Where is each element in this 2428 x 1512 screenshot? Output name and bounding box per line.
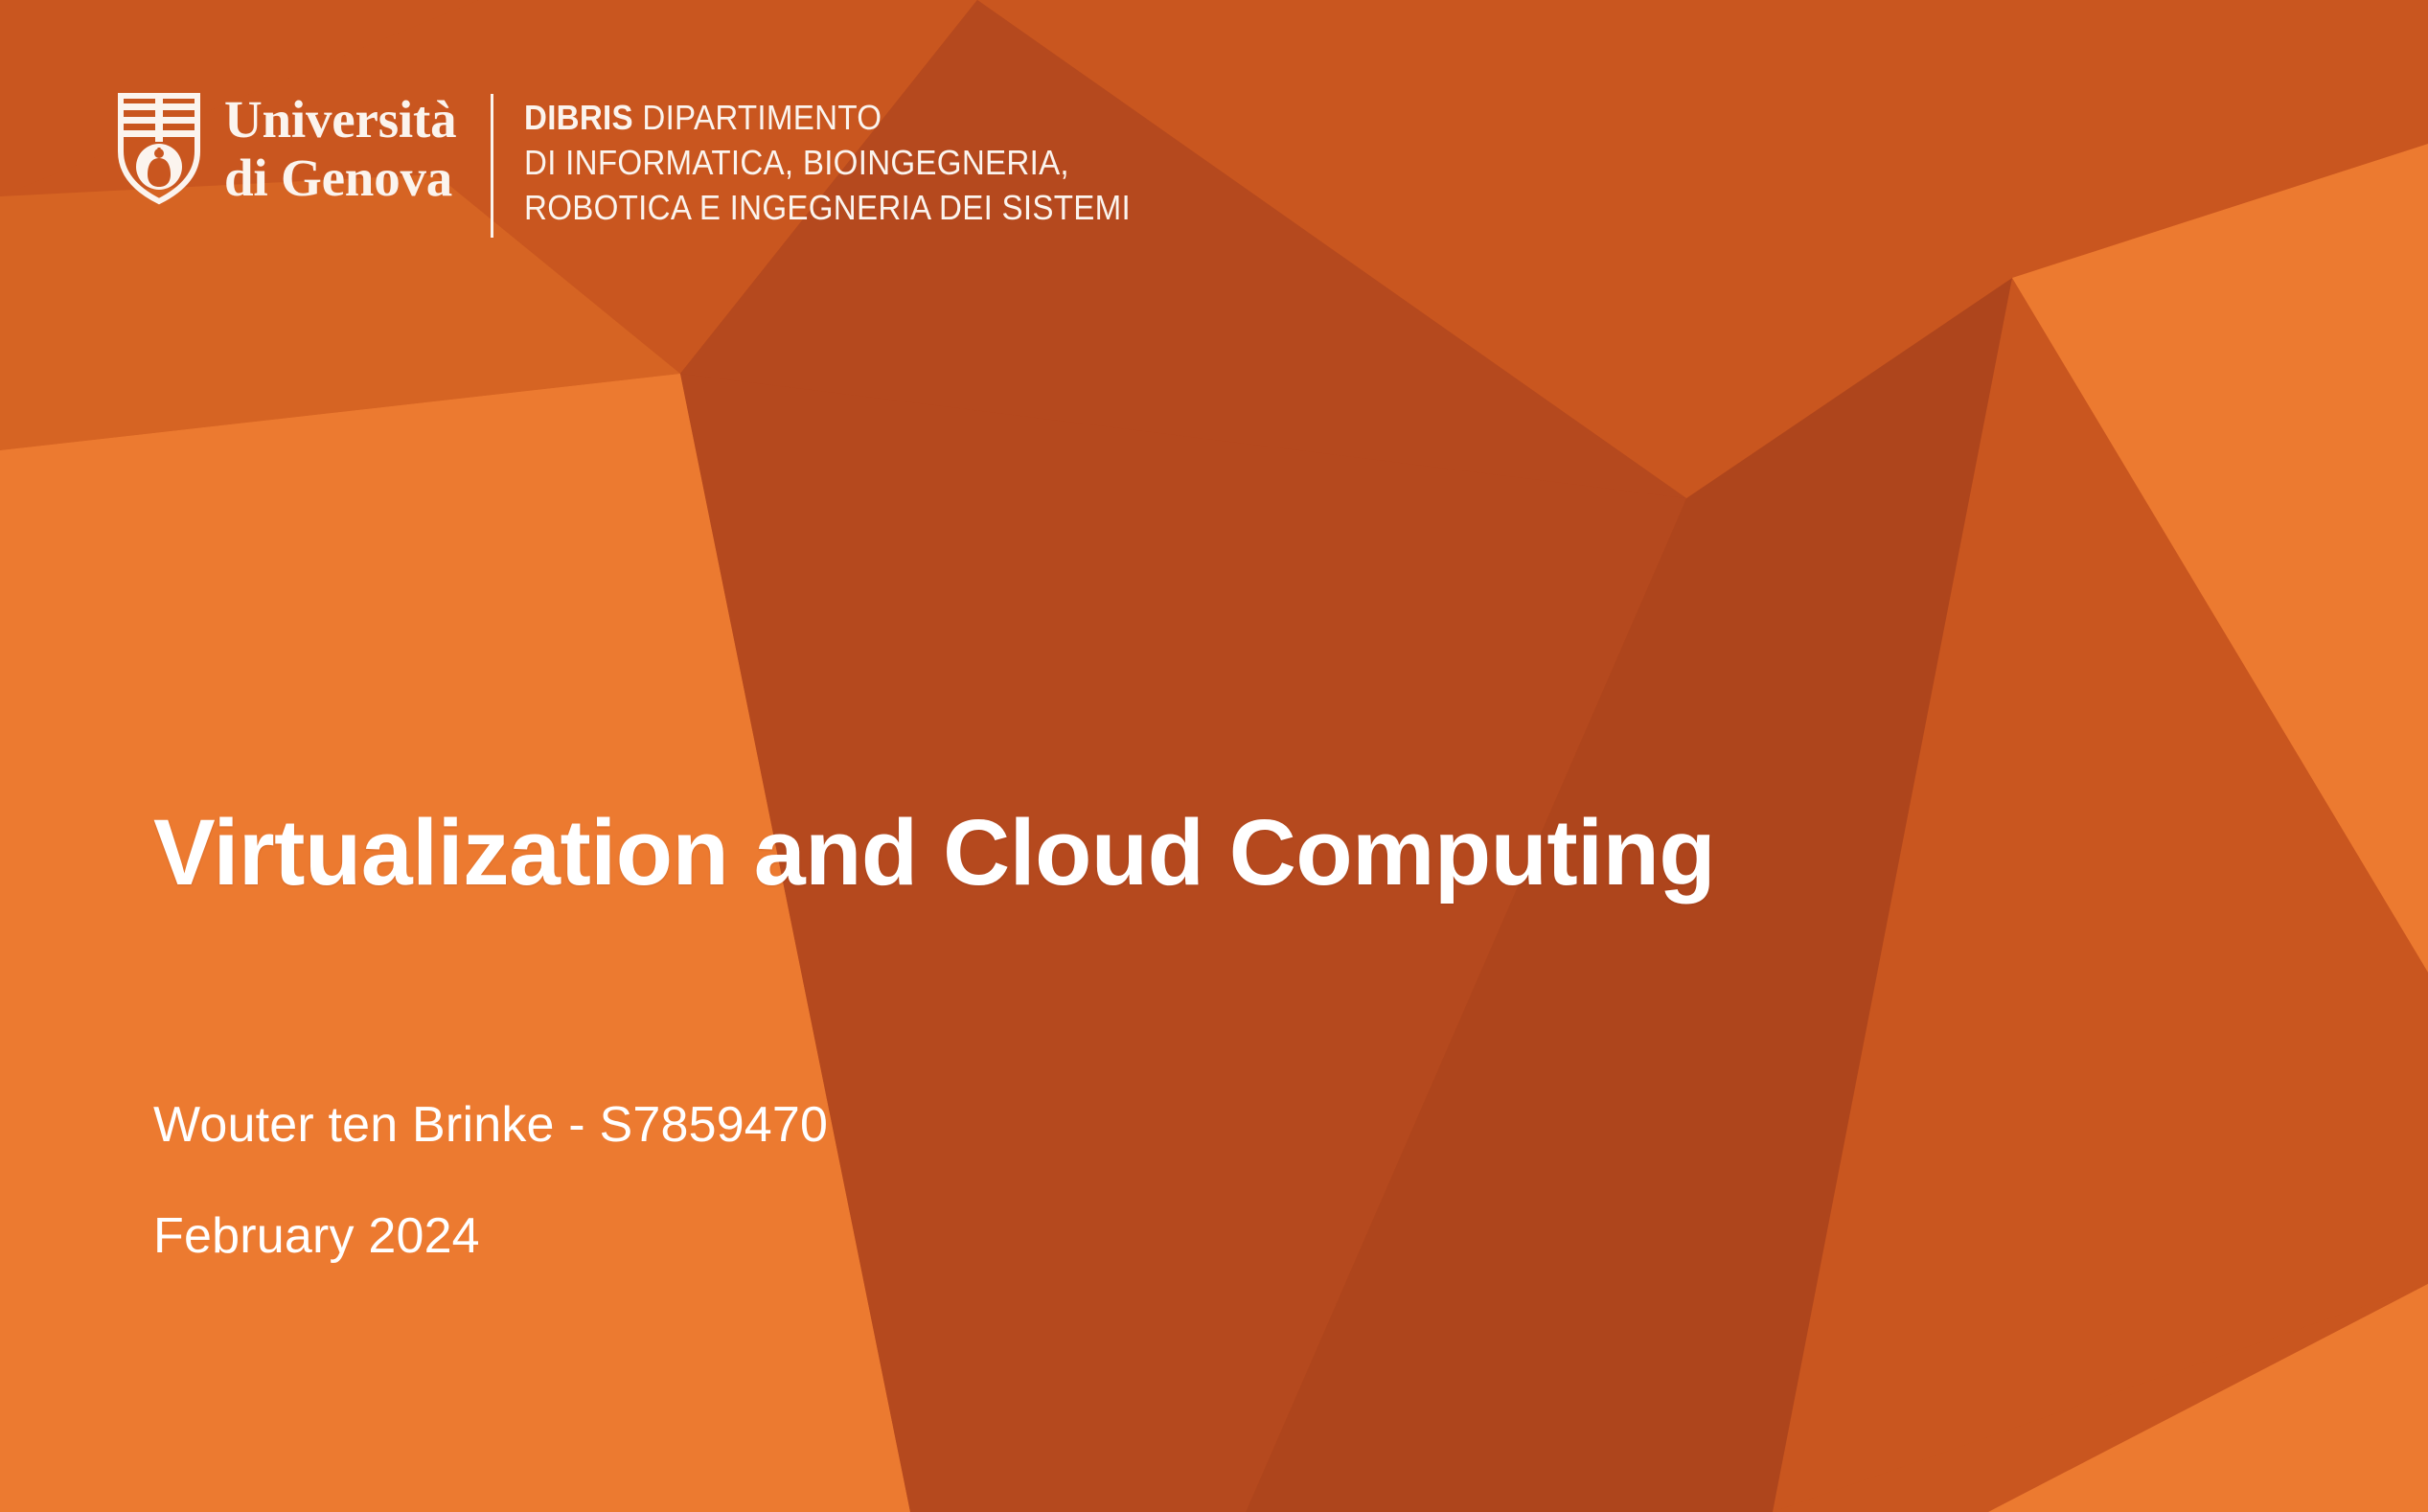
- department-line-1: DIBRIS DIPARTIMENTO: [524, 96, 1131, 141]
- logo-divider: [491, 94, 493, 238]
- university-crest-icon: [115, 92, 203, 205]
- author-line: Wouter ten Brinke - S7859470: [153, 1100, 828, 1150]
- metadata-block: Wouter ten Brinke - S7859470 February 20…: [153, 1100, 828, 1261]
- institution-header: Università di Genova DIBRIS DIPARTIMENTO…: [115, 92, 1183, 238]
- university-logo: Università di Genova: [115, 92, 456, 205]
- department-line-3: ROBOTICA E INGEGNERIA DEI SISTEMI: [524, 186, 1131, 231]
- department-line-1-rest: DIPARTIMENTO: [633, 98, 882, 137]
- university-name-line2: di Genova: [224, 151, 456, 204]
- presentation-title-slide: Università di Genova DIBRIS DIPARTIMENTO…: [0, 0, 2428, 1512]
- department-name: DIBRIS DIPARTIMENTO DI INFORMATICA, BIOI…: [524, 92, 1183, 230]
- title-block: Virtualization and Cloud Computing: [153, 803, 1715, 904]
- department-line-2: DI INFORMATICA, BIOINGEGNERIA,: [524, 141, 1131, 186]
- university-name-line1: Università: [224, 93, 456, 146]
- page-title: Virtualization and Cloud Computing: [153, 803, 1715, 904]
- date-line: February 2024: [153, 1211, 828, 1261]
- university-name: Università di Genova: [224, 93, 456, 204]
- department-acronym: DIBRIS: [524, 98, 633, 137]
